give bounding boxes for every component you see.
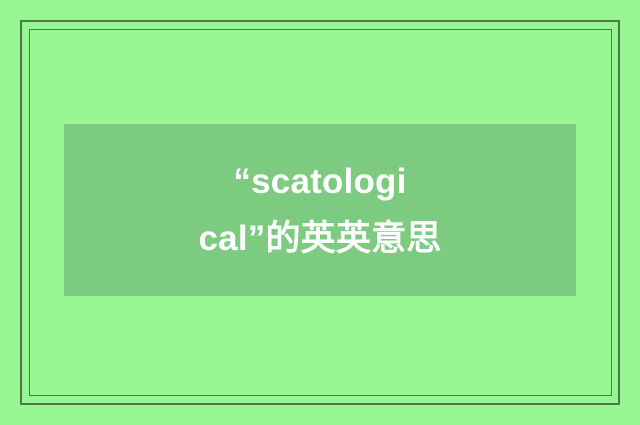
title-banner: “scatologi cal”的英英意思 (64, 124, 576, 296)
page-title: “scatologi cal”的英英意思 (64, 153, 576, 267)
card-canvas: “scatologi cal”的英英意思 (0, 0, 640, 425)
